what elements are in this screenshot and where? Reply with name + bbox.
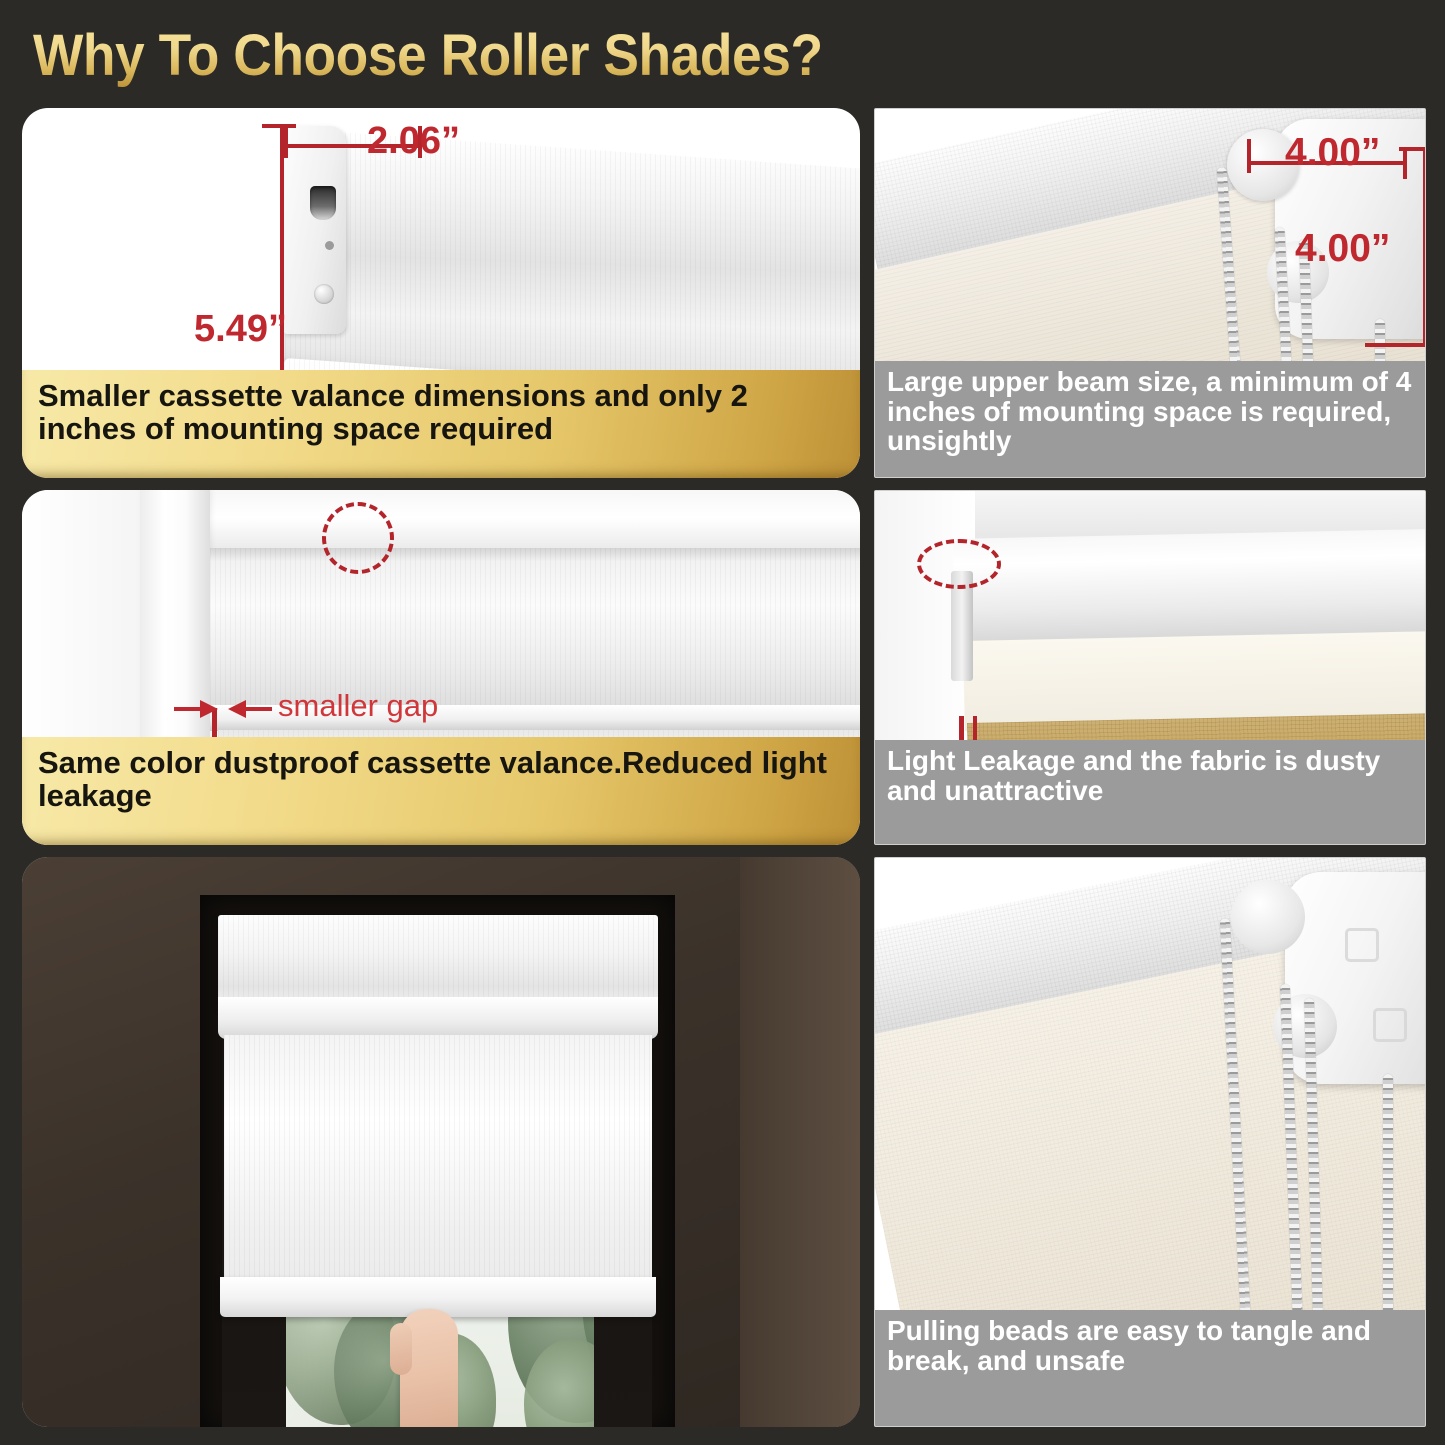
dim2-tick-height-top [1399,147,1425,151]
panel-dustproof-valance: smaller gap Same color dustproof cassett… [22,490,860,845]
panel-smaller-cassette: 2.06” 5.49” Smaller cassette valance dim… [22,108,860,478]
shade-fabric [224,1035,652,1315]
gap-label: smaller gap [278,688,438,724]
dim-tick-height-top [262,124,296,128]
valance-screw [314,284,334,304]
dim2-label-width: 4.00” [1285,131,1380,175]
gap-arrow-right-icon [226,695,272,723]
panel-large-beam: 4.00” 4.00” Large upper beam size, a min… [874,108,1426,478]
dim-label-height: 5.49” [194,308,287,351]
panel-2-caption: Large upper beam size, a minimum of 4 in… [875,361,1425,477]
dim2-tick-width-right [1403,149,1407,179]
dim-label-width: 2.06” [367,120,460,163]
room-wall-right [740,857,860,1427]
highlight-circle-icon [322,502,394,574]
valance-pin [325,241,334,250]
headrail-lip [218,997,658,1039]
panel-grid: 2.06” 5.49” Smaller cassette valance dim… [0,108,1445,1438]
highlight-circle-icon [917,539,1001,589]
bracket-emboss-lower [1373,1008,1407,1042]
panel-4-caption: Light Leakage and the fabric is dusty an… [875,740,1425,844]
dim2-line-height [1423,147,1425,347]
valance-slot [310,186,336,220]
dim2-tick-height-bottom [1365,343,1425,347]
panel-6-caption: Pulling beads are easy to tangle and bre… [875,1310,1425,1426]
dim2-label-height: 4.00” [1295,227,1390,271]
bead-chain-4 [1383,1074,1393,1324]
gap-arrow-left-icon [174,695,220,723]
roller-end-upper [1231,880,1305,954]
cassette-headrail [218,915,658,1007]
window-frame-top [140,490,860,552]
panel-light-leakage: Large gap Light Leakage and the fabric i… [874,490,1426,845]
bracket-emboss-upper [1345,928,1379,962]
thumb [390,1323,412,1375]
panel-3-caption: Same color dustproof cassette valance.Re… [22,737,860,845]
panel-5-artwork [22,857,860,1427]
panel-cordless-design: Free-stop cordless design is safer and m… [22,857,860,1427]
valance-end-cap [284,126,346,334]
page-title: Why To Choose Roller Shades? [33,22,823,89]
panel-pulling-beads: Pulling beads are easy to tangle and bre… [874,857,1426,1427]
panel-1-caption: Smaller cassette valance dimensions and … [22,370,860,478]
dim-tick-width-left [284,124,288,158]
dim2-tick-width-left [1247,139,1251,173]
